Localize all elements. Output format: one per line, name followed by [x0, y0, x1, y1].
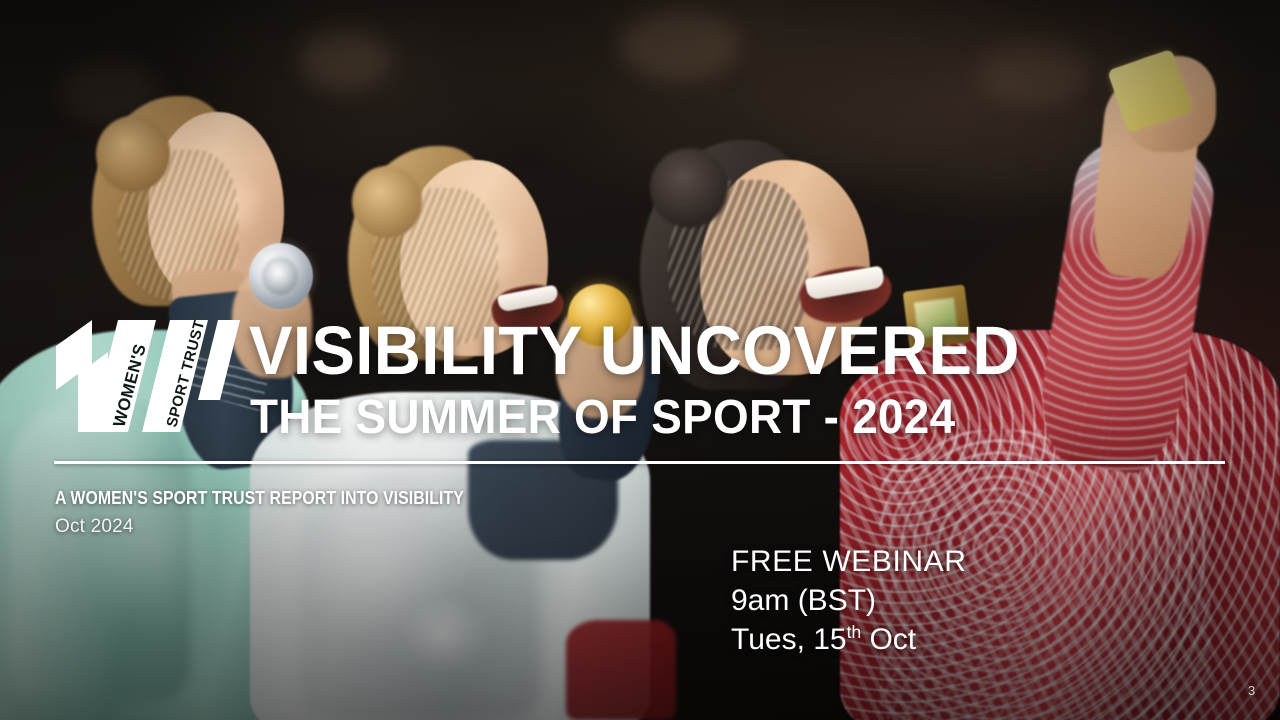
webinar-date-ordinal: th	[847, 622, 862, 642]
webinar-date-prefix: Tues, 15	[731, 623, 847, 656]
womens-sport-trust-logo: WOMEN'S SPORT TRUST	[52, 312, 240, 440]
report-date: Oct 2024	[55, 516, 134, 538]
webinar-headline: FREE WEBINAR	[731, 542, 967, 581]
webinar-date: Tues, 15th Oct	[731, 620, 967, 659]
page-number: 3	[1248, 683, 1255, 698]
horizontal-divider	[54, 461, 1225, 464]
slide-subtitle: THE SUMMER OF SPORT - 2024	[250, 394, 955, 442]
presentation-slide: WOMEN'S SPORT TRUST VISIBILITY UNCOVERED…	[0, 0, 1280, 720]
webinar-time: 9am (BST)	[731, 581, 967, 620]
webinar-details: FREE WEBINAR 9am (BST) Tues, 15th Oct	[731, 542, 967, 659]
report-caption: A WOMEN'S SPORT TRUST REPORT INTO VISIBI…	[55, 488, 464, 509]
slide-content-overlay: WOMEN'S SPORT TRUST VISIBILITY UNCOVERED…	[0, 0, 1280, 720]
slide-title: VISIBILITY UNCOVERED	[249, 316, 1020, 385]
webinar-date-suffix: Oct	[861, 623, 916, 656]
